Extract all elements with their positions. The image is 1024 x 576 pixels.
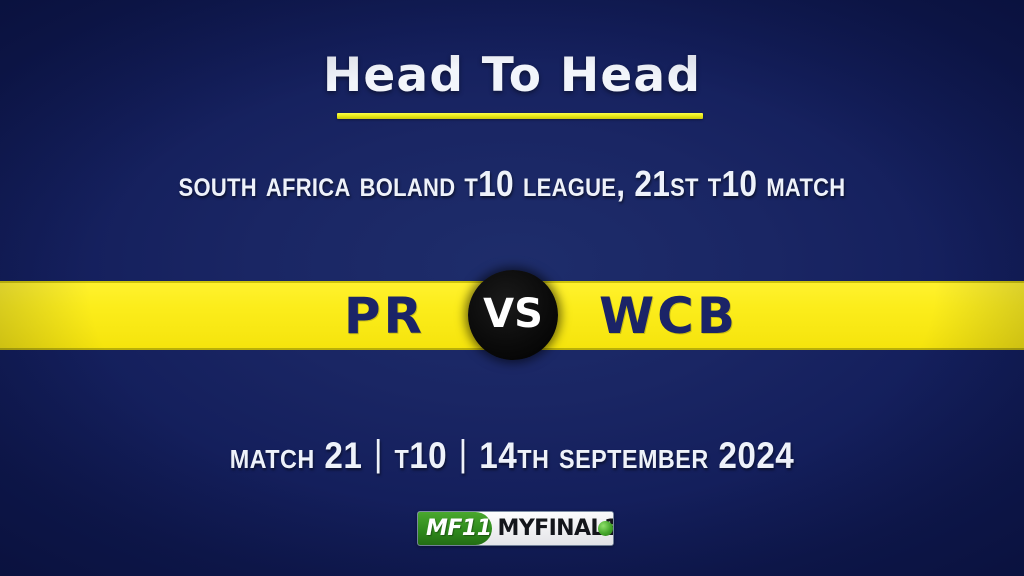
logo-wordmark-text: MYFINAL11 (498, 516, 614, 541)
logo-wordmark-area: MYFINAL11 (492, 512, 614, 545)
separator-right: | (457, 433, 470, 475)
team-right-name[interactable]: WCB (557, 291, 817, 341)
head-to-head-banner: Head To Head South Africa Boland T10 Lea… (0, 0, 1024, 576)
title-underline-accent (337, 113, 703, 119)
match-details: Match 21 | T10 | 14th September 2024 (51, 435, 973, 477)
page-title: Head To Head (0, 52, 1024, 99)
team-left-name[interactable]: PR (207, 291, 467, 341)
logo-mark-text: MF11 (426, 516, 492, 541)
versus-label: VS (483, 294, 543, 334)
versus-circle: VS (468, 270, 558, 360)
match-number-label: Match 21 (230, 435, 363, 476)
match-date-label: 14th September 2024 (479, 435, 794, 476)
title-block: Head To Head (0, 52, 1024, 99)
tournament-subtitle: South Africa Boland T10 League, 21st T10… (61, 163, 962, 205)
match-format-label: T10 (394, 435, 447, 476)
logo-mark-badge: MF11 (418, 512, 492, 545)
myfinal11-logo[interactable]: MF11 MYFINAL11 (417, 511, 614, 546)
separator-left: | (372, 433, 385, 475)
